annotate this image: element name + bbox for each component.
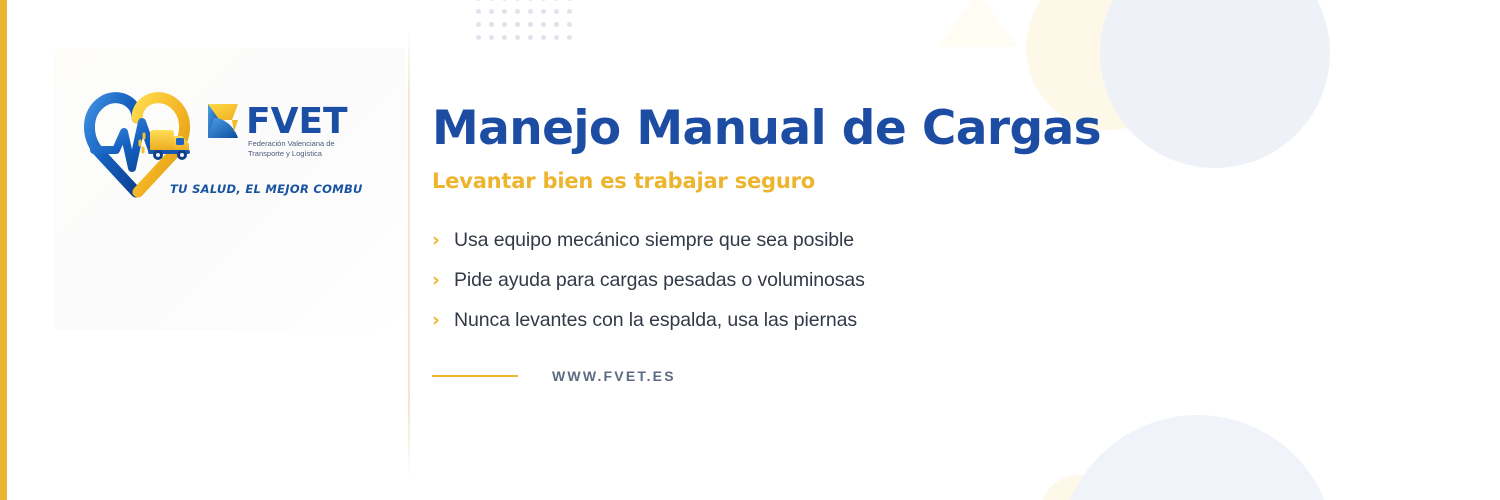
fvet-heart-truck-logo-icon: FVET Federación Valenciana de Transporte… xyxy=(72,88,362,206)
triangle-decoration xyxy=(938,0,1018,47)
list-item: › Pide ayuda para cargas pesadas o volum… xyxy=(432,261,1132,301)
circle-decoration-blue-top xyxy=(1100,0,1330,168)
list-item-label: Pide ayuda para cargas pesadas o volumin… xyxy=(454,269,865,292)
list-item-label: Usa equipo mecánico siempre que sea posi… xyxy=(454,229,854,252)
chevron-right-icon: › xyxy=(432,311,454,330)
fvet-tagline: TU SALUD, EL MEJOR COMBUSTIBLE xyxy=(170,182,362,196)
fvet-mark-icon xyxy=(208,104,238,138)
fvet-org-line-1: Federación Valenciana de xyxy=(248,139,335,148)
page-subtitle: Levantar bien es trabajar seguro xyxy=(432,169,1132,193)
website-url[interactable]: WWW.FVET.ES xyxy=(552,368,676,384)
fvet-org-line-2: Transporte y Logística xyxy=(248,149,323,158)
footer: WWW.FVET.ES xyxy=(432,366,1132,386)
footer-rule xyxy=(432,375,518,377)
circle-decoration-blue-bottom xyxy=(1060,415,1335,500)
fvet-logo: FVET Federación Valenciana de Transporte… xyxy=(72,88,362,206)
fvet-wordmark: FVET xyxy=(246,101,348,142)
chevron-right-icon: › xyxy=(432,231,454,250)
left-accent-bar xyxy=(0,0,7,500)
page-title: Manejo Manual de Cargas xyxy=(432,104,1132,155)
vertical-divider xyxy=(408,30,410,478)
list-item-label: Nunca levantes con la espalda, usa las p… xyxy=(454,309,857,332)
chevron-right-icon: › xyxy=(432,271,454,290)
list-item: › Usa equipo mecánico siempre que sea po… xyxy=(432,221,1132,261)
banner-root: FVET Federación Valenciana de Transporte… xyxy=(0,0,1500,500)
content-column: Manejo Manual de Cargas Levantar bien es… xyxy=(432,104,1132,386)
dot-grid-decoration xyxy=(476,0,580,48)
circle-decoration-cream-bottom xyxy=(1040,475,1118,500)
list-item: › Nunca levantes con la espalda, usa las… xyxy=(432,301,1132,341)
safety-tips-list: › Usa equipo mecánico siempre que sea po… xyxy=(432,221,1132,341)
